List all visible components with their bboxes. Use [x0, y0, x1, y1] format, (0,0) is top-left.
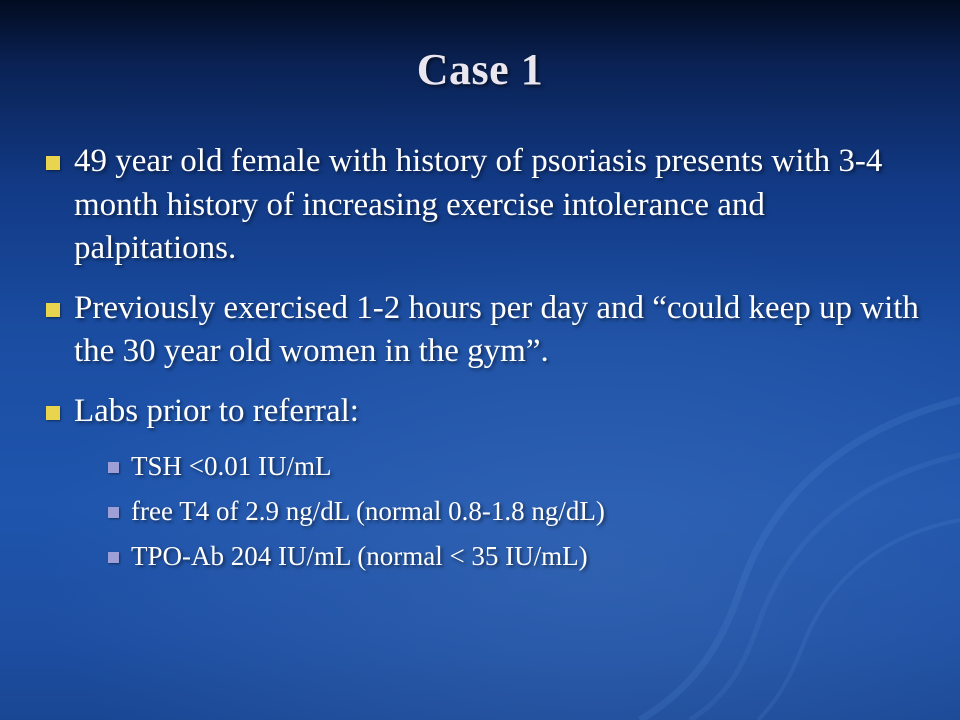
slide-title: Case 1	[0, 44, 960, 95]
list-item: TSH <0.01 IU/mL	[108, 449, 926, 484]
sub-bullet-square-icon	[108, 462, 119, 473]
bullet-square-icon	[46, 303, 60, 317]
slide-sub-list: TSH <0.01 IU/mL free T4 of 2.9 ng/dL (no…	[108, 449, 926, 574]
list-item-label: Previously exercised 1-2 hours per day a…	[74, 287, 926, 374]
list-item-label: 49 year old female with history of psori…	[74, 140, 926, 271]
sub-bullet-square-icon	[108, 552, 119, 563]
list-item-label: TPO-Ab 204 IU/mL (normal < 35 IU/mL)	[131, 539, 588, 574]
list-item-label: TSH <0.01 IU/mL	[131, 449, 331, 484]
list-item-label: free T4 of 2.9 ng/dL (normal 0.8-1.8 ng/…	[131, 494, 605, 529]
list-item-label: Labs prior to referral:	[74, 390, 359, 434]
list-item: Previously exercised 1-2 hours per day a…	[46, 287, 926, 374]
list-item: 49 year old female with history of psori…	[46, 140, 926, 271]
slide-body-list: 49 year old female with history of psori…	[46, 140, 926, 585]
bullet-square-icon	[46, 406, 60, 420]
presentation-slide: Case 1 49 year old female with history o…	[0, 0, 960, 720]
bullet-square-icon	[46, 156, 60, 170]
list-item: free T4 of 2.9 ng/dL (normal 0.8-1.8 ng/…	[108, 494, 926, 529]
sub-bullet-square-icon	[108, 507, 119, 518]
list-item: TPO-Ab 204 IU/mL (normal < 35 IU/mL)	[108, 539, 926, 574]
list-item: Labs prior to referral:	[46, 390, 926, 434]
